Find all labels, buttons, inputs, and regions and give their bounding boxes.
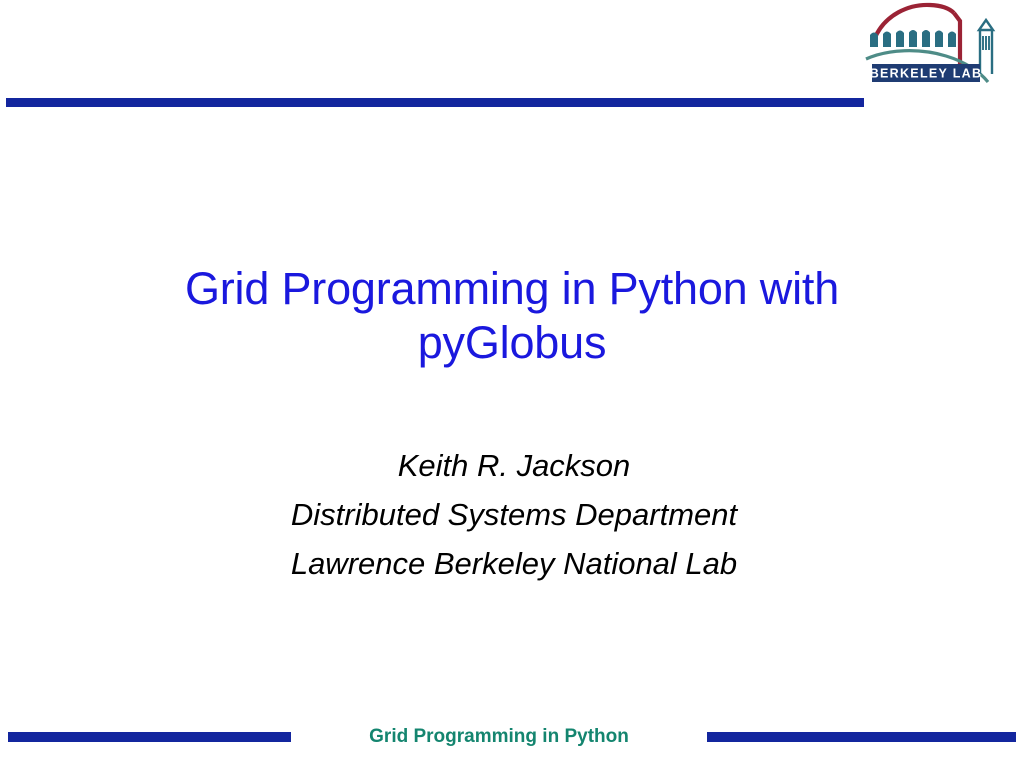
footer-text: Grid Programming in Python xyxy=(292,725,706,749)
page-title-line-2: pyGlobus xyxy=(112,316,912,370)
logo-colonnade xyxy=(870,30,956,47)
footer-rule-right xyxy=(707,732,1016,742)
byline-department: Distributed Systems Department xyxy=(114,490,914,539)
page-title: Grid Programming in Python with pyGlobus xyxy=(112,262,912,370)
byline-organization: Lawrence Berkeley National Lab xyxy=(114,539,914,588)
slide-canvas: BERKELEY LAB Grid Programming in Python … xyxy=(0,0,1024,768)
byline-author-name: Keith R. Jackson xyxy=(114,441,914,490)
berkeley-lab-logo-graphic: BERKELEY LAB xyxy=(862,2,1022,90)
berkeley-lab-logo: BERKELEY LAB xyxy=(862,2,1022,90)
page-title-line-1: Grid Programming in Python with xyxy=(112,262,912,316)
footer-rule-left xyxy=(8,732,291,742)
author-byline: Keith R. Jackson Distributed Systems Dep… xyxy=(114,441,914,588)
logo-banner-text: BERKELEY LAB xyxy=(870,67,983,81)
header-divider-rule xyxy=(6,98,864,107)
